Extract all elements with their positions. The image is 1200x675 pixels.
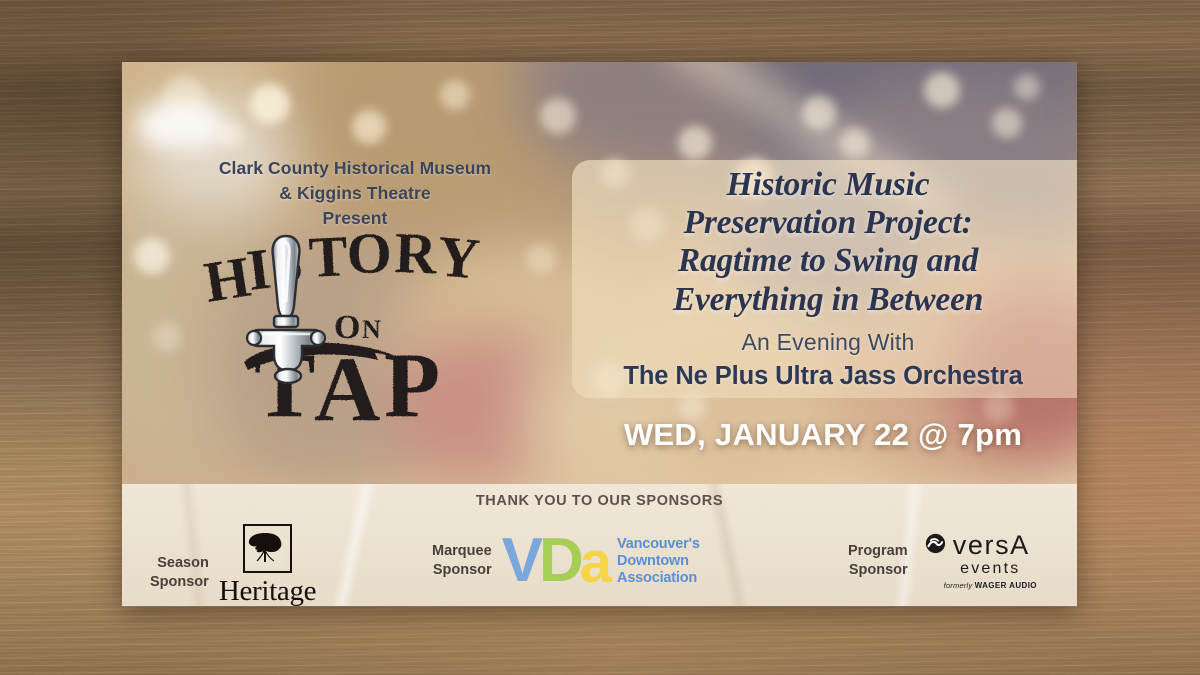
versa-events-subtext: events <box>960 560 1020 578</box>
tree-in-square-icon <box>243 524 292 573</box>
bokeh-light <box>352 110 386 144</box>
versa-formerly-prefix: formerly <box>944 581 975 590</box>
presenter-credit: Clark County Historical Museum & Kiggins… <box>170 156 540 231</box>
versa-top-row: versA <box>925 532 1030 559</box>
bokeh-light <box>678 126 712 160</box>
svg-text:P: P <box>384 334 440 430</box>
sponsor-bar: THANK YOU TO OUR SPONSORS Season Sponsor <box>122 484 1077 606</box>
versa-formerly-line: formerly WAGER AUDIO <box>944 581 1037 590</box>
svg-text:R: R <box>394 230 439 286</box>
history-on-tap-logo: H I S T O R Y O N T <box>202 230 512 430</box>
sponsors-heading: THANK YOU TO OUR SPONSORS <box>122 493 1077 509</box>
ceiling-light-glow <box>138 102 224 148</box>
event-performer: The Ne Plus Ultra Jass Orchestra <box>574 362 1072 391</box>
vda-letter-d: D <box>539 536 580 587</box>
flyer-stage: Clark County Historical Museum & Kiggins… <box>0 0 1200 675</box>
bokeh-light <box>540 98 576 134</box>
sponsor-tier-label: Season Sponsor <box>150 554 209 593</box>
event-datetime: WED, JANUARY 22 @ 7pm <box>574 417 1072 453</box>
event-headline: Historic Music Preservation Project: Rag… <box>584 166 1072 319</box>
vda-word-line: Downtown <box>617 553 700 570</box>
sponsor-marquee: Marquee Sponsor V D a Vancouver's Downto… <box>432 536 700 587</box>
versa-formerly-name: WAGER AUDIO <box>975 581 1037 590</box>
svg-text:O: O <box>346 230 393 286</box>
svg-text:T: T <box>307 230 350 290</box>
bokeh-light <box>440 80 470 110</box>
headline-line: Ragtime to Swing and <box>584 242 1072 280</box>
event-flyer-card: Clark County Historical Museum & Kiggins… <box>122 62 1077 606</box>
heritage-bank-logo: Heritage BANK <box>219 524 316 606</box>
vda-word-line: Vancouver's <box>617 536 700 553</box>
bokeh-light <box>250 84 290 124</box>
vda-letter-v: V <box>502 536 539 587</box>
versa-wordmark: versA <box>953 532 1030 559</box>
bokeh-light <box>924 72 960 108</box>
headline-line: Preservation Project: <box>584 204 1072 242</box>
bokeh-light <box>1014 74 1040 100</box>
sponsor-program: Program Sponsor versA <box>848 532 1037 590</box>
headline-line: Historic Music <box>584 166 1072 204</box>
svg-text:Y: Y <box>435 230 483 292</box>
vda-letter-a: a <box>580 539 608 587</box>
bokeh-light <box>134 238 170 274</box>
bokeh-light <box>526 244 556 274</box>
vda-word-line: Association <box>617 570 700 587</box>
heritage-wordmark: Heritage <box>219 577 316 606</box>
sponsor-logo-row: Season Sponsor Heritage BANK <box>122 516 1077 602</box>
versa-events-logo: versA events formerly WAGER AUDIO <box>918 532 1037 590</box>
vda-wordmark: Vancouver's Downtown Association <box>617 536 700 586</box>
circle-swoosh-icon <box>925 533 946 559</box>
bokeh-light <box>992 108 1022 138</box>
vda-letters: V D a <box>502 536 608 587</box>
sponsor-season: Season Sponsor Heritage BANK <box>150 524 316 606</box>
event-subtitle: An Evening With <box>584 329 1072 356</box>
bokeh-light <box>152 322 182 352</box>
sponsor-tier-label: Marquee Sponsor <box>432 542 492 581</box>
headline-line: Everything in Between <box>584 281 1072 319</box>
sponsor-tier-label: Program Sponsor <box>848 542 908 581</box>
vda-logo: V D a Vancouver's Downtown Association <box>502 536 700 587</box>
